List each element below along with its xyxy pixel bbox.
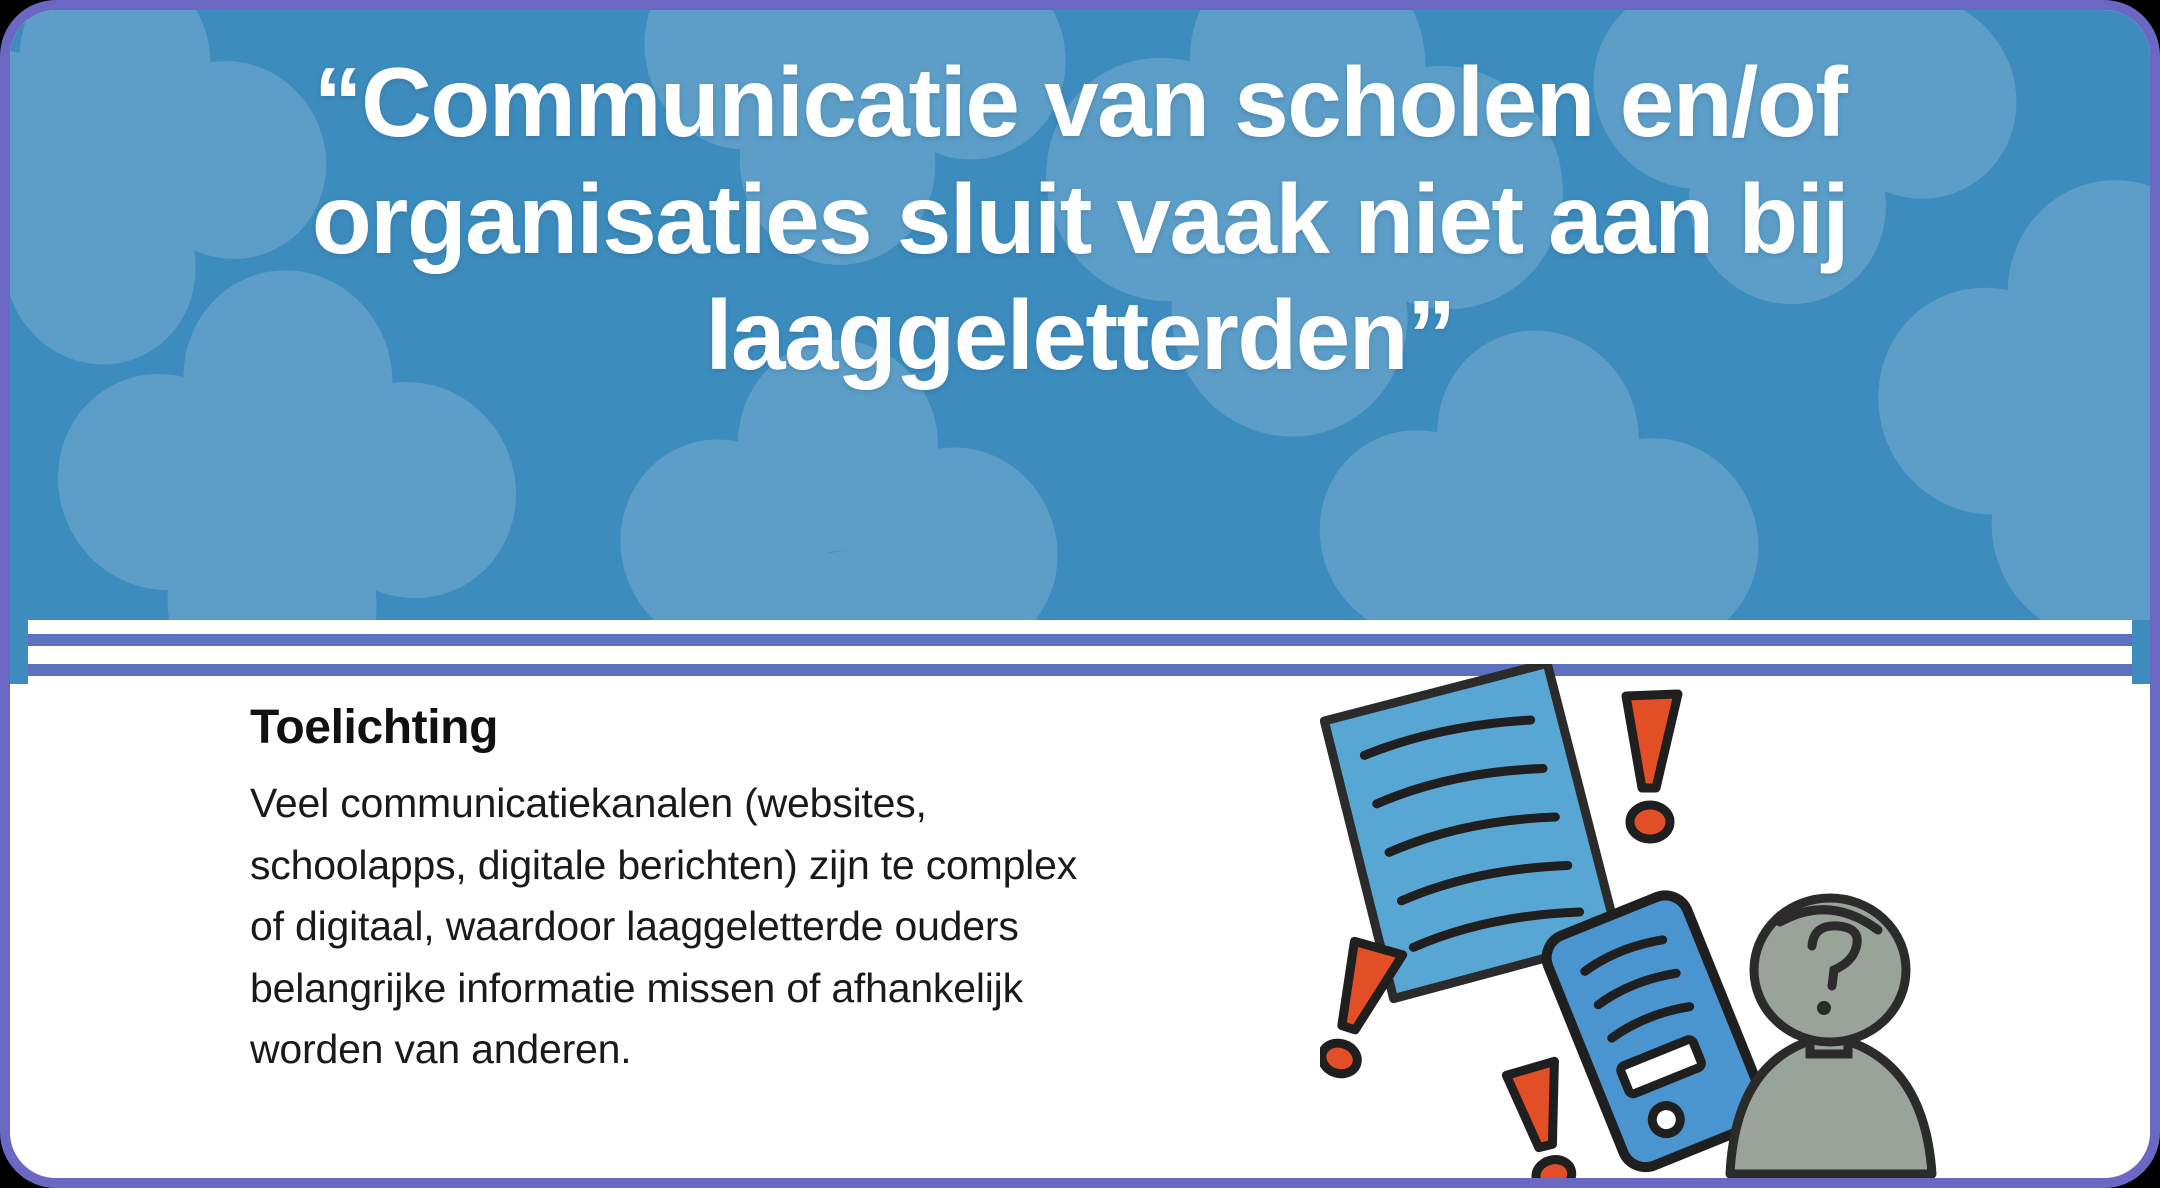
exclamation-mark-icon: [1506, 1061, 1585, 1184]
explanation-heading: Toelichting: [250, 700, 1260, 755]
card-header: “Communicatie van scholen en/of organisa…: [0, 0, 2160, 620]
explanation-paragraph: Veel communicatiekanalen (websites, scho…: [250, 773, 1260, 1081]
person-figure-icon: [1730, 898, 1932, 1174]
quote-card: “Communicatie van scholen en/of organisa…: [0, 0, 2160, 1188]
exclamation-mark-icon: [1320, 939, 1403, 1081]
divider-rule-top: [28, 634, 2132, 646]
illustration-confused-person: [1320, 664, 2140, 1184]
exclamation-mark-icon: [1626, 694, 1678, 839]
page-title: “Communicatie van scholen en/of organisa…: [60, 44, 2100, 394]
card-body: Toelichting Veel communicatiekanalen (we…: [10, 684, 2160, 1188]
explanation-block: Toelichting Veel communicatiekanalen (we…: [250, 700, 1260, 1081]
divider-edge-left: [0, 620, 28, 684]
